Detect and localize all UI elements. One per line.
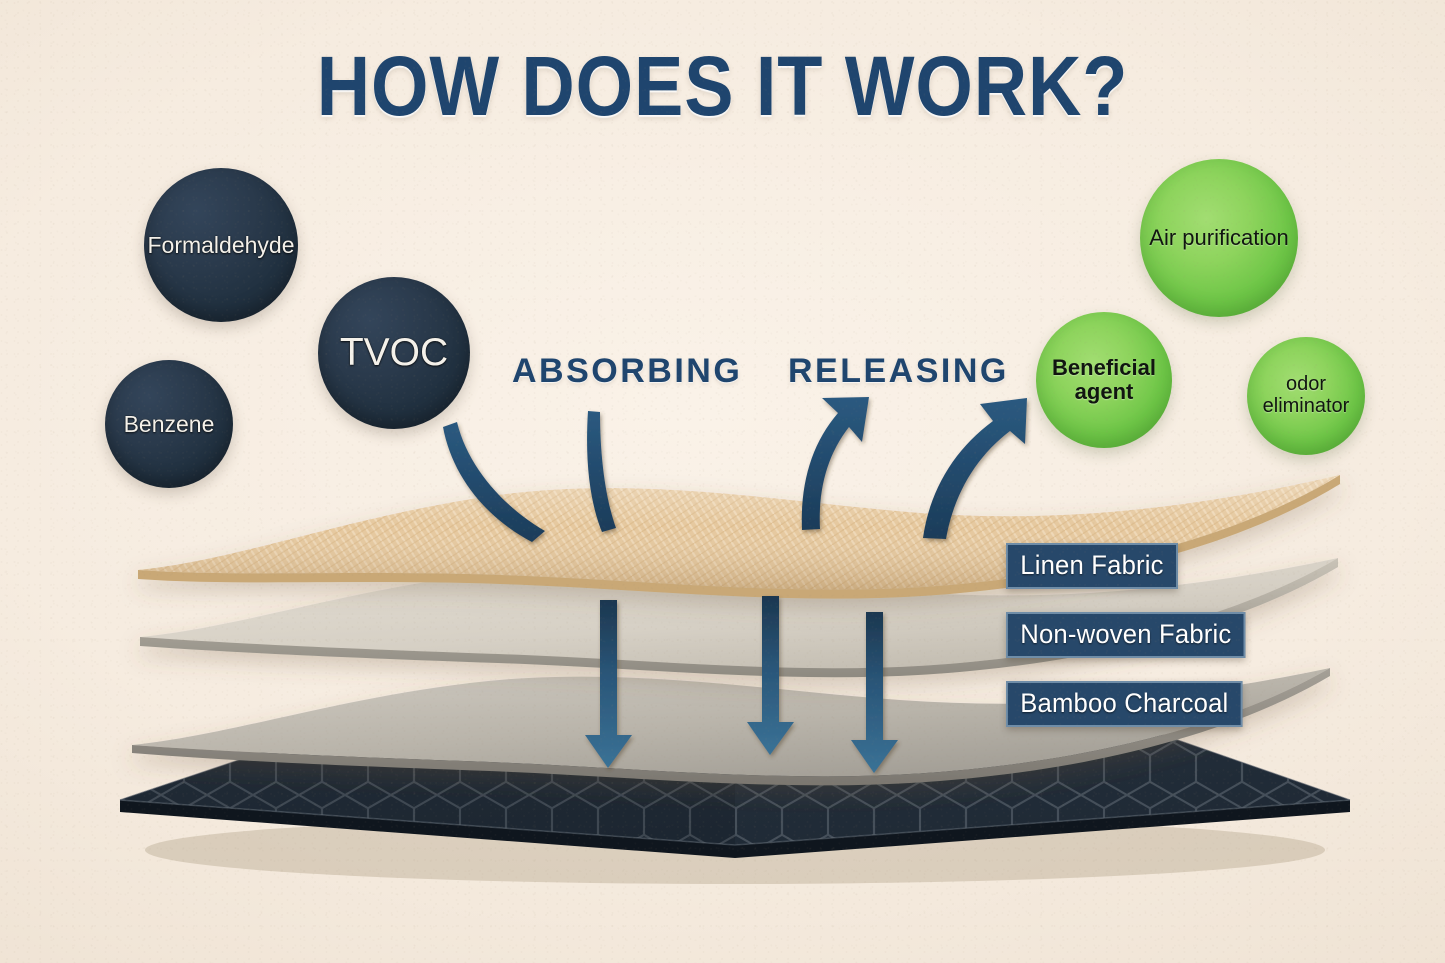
bubble-label: Benzene [124,412,215,437]
layer-tag-linen-fabric[interactable]: Linen Fabric [1006,543,1178,589]
infographic-canvas: HOW DOES IT WORK? [0,0,1445,963]
phase-label-releasing: RELEASING [788,352,1009,391]
bubble-label: odor eliminator [1263,374,1350,417]
bubble-label: TVOC [340,332,448,374]
layer-stack-illustration [0,0,1445,963]
bubble-label-line2: agent [1075,379,1134,404]
bubble-label-line1: odor [1286,373,1326,395]
page-title: HOW DOES IT WORK? [87,38,1359,135]
bubble-label-line1: Beneficial [1052,355,1156,380]
layer-tag-non-woven-fabric[interactable]: Non-woven Fabric [1006,612,1246,658]
bubble-tvoc[interactable]: TVOC [318,277,470,429]
bubble-label: Air purification [1149,226,1288,250]
bubble-air-purification[interactable]: Air purification [1140,159,1298,317]
bubble-beneficial-agent[interactable]: Beneficial agent [1036,312,1172,448]
bubble-label-line2: eliminator [1263,395,1350,417]
phase-label-absorbing: ABSORBING [512,352,742,391]
layer-tag-bamboo-charcoal[interactable]: Bamboo Charcoal [1006,681,1243,727]
bubble-benzene[interactable]: Benzene [105,360,233,488]
bubble-label: Formaldehyde [147,233,294,258]
bubble-formaldehyde[interactable]: Formaldehyde [144,168,298,322]
bubble-label: Beneficial agent [1052,356,1156,404]
bubble-odor-eliminator[interactable]: odor eliminator [1247,337,1365,455]
